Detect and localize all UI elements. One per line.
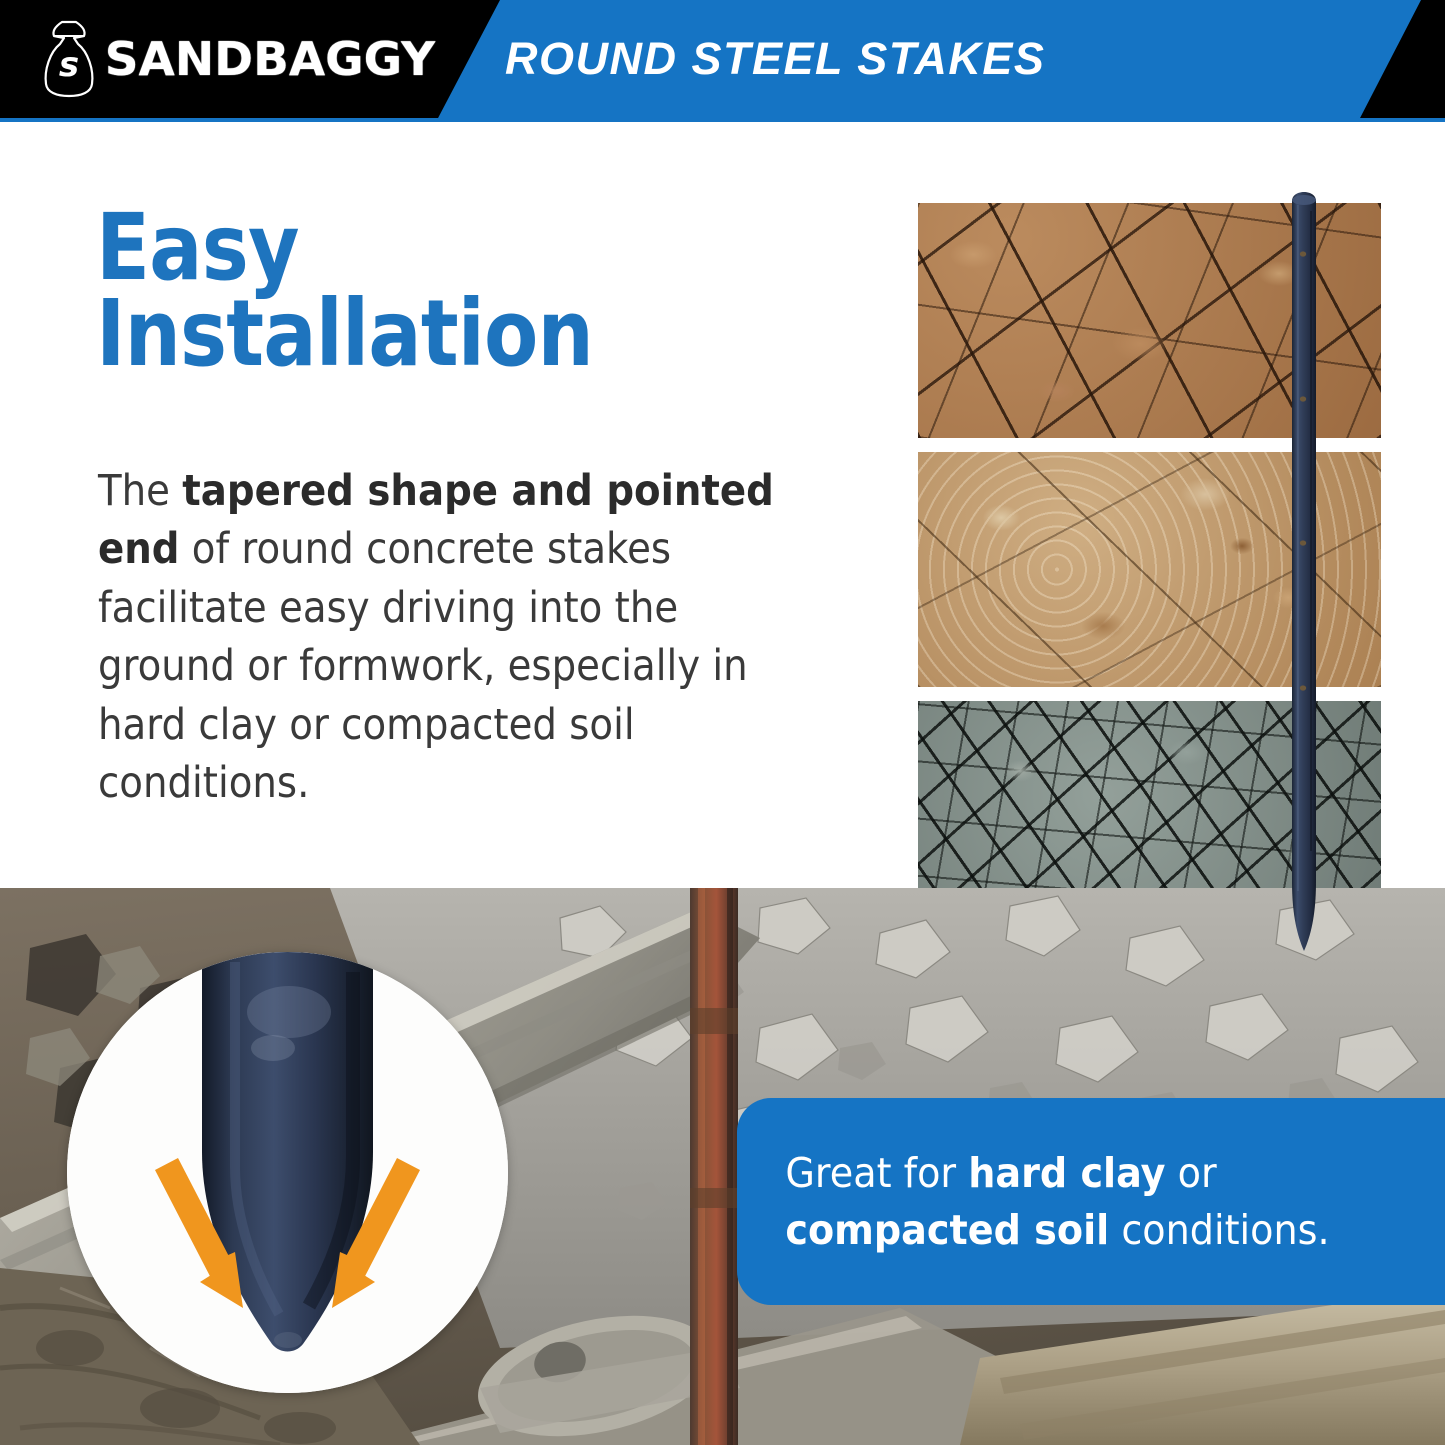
callout-part-2: or (1166, 1149, 1217, 1197)
svg-text:s: s (59, 45, 79, 85)
headline-line-2: Installation (96, 280, 593, 387)
stake-tip-closeup-inset (67, 952, 508, 1393)
header-title: ROUND STEEL STAKES (505, 33, 1045, 85)
brand-logo: s SANDBAGGY (40, 18, 432, 100)
callout-bold-1: hard clay (968, 1149, 1165, 1197)
brand-name: SANDBAGGY (105, 32, 435, 86)
body-paragraph: The tapered shape and pointed end of rou… (98, 462, 818, 813)
callout-box: Great for hard clay or compacted soil co… (737, 1098, 1445, 1305)
callout-part-3: conditions. (1109, 1206, 1329, 1254)
sandbag-icon: s (40, 18, 98, 100)
header-bar: s SANDBAGGY ROUND STEEL STAKES (0, 0, 1445, 120)
page-headline: Easy Installation (96, 205, 750, 376)
callout-part-1: Great for (785, 1149, 968, 1197)
body-part-1: The (98, 466, 182, 516)
infographic-root: s SANDBAGGY ROUND STEEL STAKES Easy Inst… (0, 0, 1445, 1445)
body-part-2: of round concrete stakes facilitate easy… (98, 524, 748, 808)
callout-bold-2: compacted soil (785, 1206, 1109, 1254)
callout-text: Great for hard clay or compacted soil co… (737, 1145, 1395, 1258)
round-steel-stake (1290, 191, 1318, 956)
